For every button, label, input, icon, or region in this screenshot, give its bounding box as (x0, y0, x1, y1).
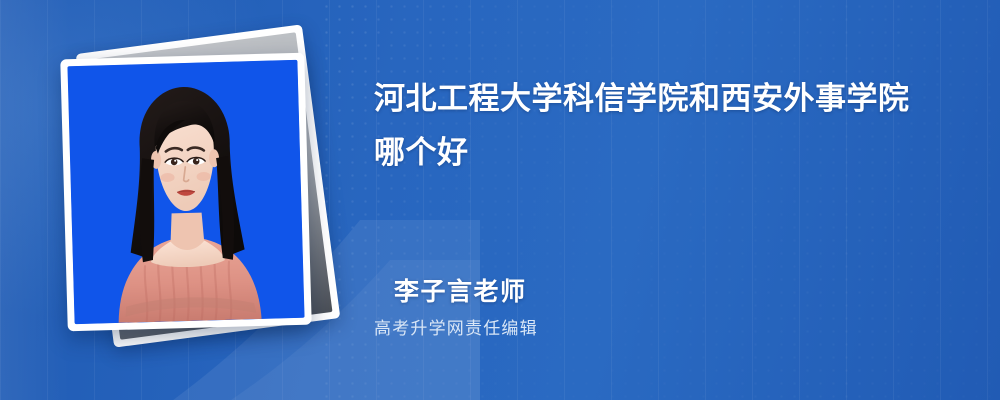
author-portrait-image (67, 60, 304, 324)
background-dot-grid (320, 0, 1000, 400)
photo-card-front (60, 53, 311, 332)
headline-block: 河北工程大学科信学院和西安外事学院哪个好 (374, 72, 974, 180)
article-header-banner: 河北工程大学科信学院和西安外事学院哪个好 李子言老师 高考升学网责任编辑 (0, 0, 1000, 400)
article-title: 河北工程大学科信学院和西安外事学院哪个好 (374, 72, 934, 180)
photo-frame (67, 60, 304, 324)
author-role: 高考升学网责任编辑 (374, 314, 894, 339)
author-name: 李子言老师 (394, 272, 894, 308)
photo-stack (52, 34, 342, 364)
author-block: 李子言老师 高考升学网责任编辑 (374, 272, 894, 339)
